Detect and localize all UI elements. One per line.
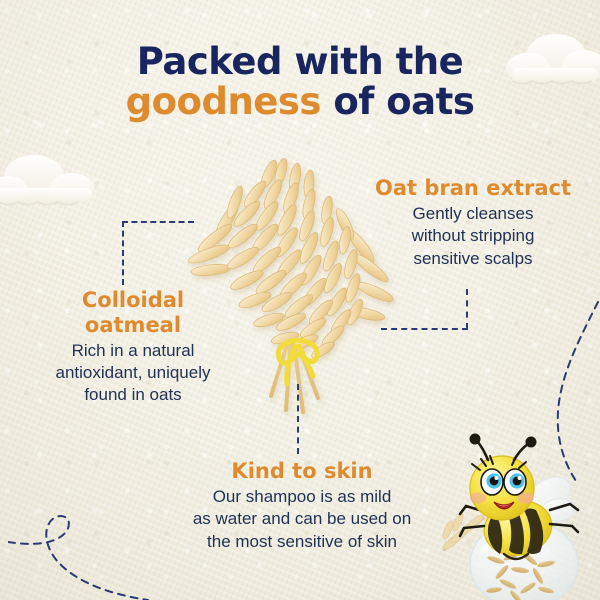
- cloud-left-icon: [0, 146, 102, 214]
- callout-colloidal-body-line-2: antioxidant, uniquely: [14, 362, 252, 384]
- callout-kind-body: Our shampoo is as mild as water and can …: [158, 486, 446, 553]
- bee-wing-icon: [524, 470, 577, 523]
- callout-oat-bran-body-line-1: Gently cleanses: [352, 203, 594, 225]
- connector-colloidal-vertical: [122, 221, 124, 285]
- small-wheat-sprig: [441, 511, 485, 551]
- callout-colloidal-oatmeal: Colloidal oatmeal Rich in a natural anti…: [14, 288, 252, 407]
- headline-line-1: Packed with the: [0, 42, 600, 82]
- callout-colloidal-title-line-2: oatmeal: [14, 313, 252, 338]
- headline-line-2: goodness of oats: [0, 82, 600, 122]
- callout-kind-body-line-1: Our shampoo is as mild: [158, 486, 446, 508]
- callout-oat-bran-title: Oat bran extract: [352, 176, 594, 201]
- glass-bowl-of-oats: [470, 520, 578, 600]
- bee-eyes: [481, 469, 526, 495]
- callout-kind-body-line-3: the most sensitive of skin: [158, 531, 446, 553]
- connector-oat-bran-vertical: [466, 289, 468, 329]
- bee-legs: [460, 504, 578, 536]
- callout-colloidal-title-line-1: Colloidal: [14, 288, 252, 313]
- connector-colloidal-horizontal: [122, 221, 194, 223]
- callout-oat-bran-extract: Oat bran extract Gently cleanses without…: [352, 176, 594, 270]
- callout-colloidal-body-line-3: found in oats: [14, 384, 252, 406]
- callout-oat-bran-body-line-2: without stripping: [352, 225, 594, 247]
- callout-colloidal-body-line-1: Rich in a natural: [14, 340, 252, 362]
- callout-kind-to-skin: Kind to skin Our shampoo is as mild as w…: [158, 459, 446, 553]
- ribbon-bow-icon: [278, 340, 317, 384]
- callout-colloidal-title: Colloidal oatmeal: [14, 288, 252, 338]
- connector-oat-bran-horizontal: [381, 328, 468, 330]
- page-title: Packed with the goodness of oats: [0, 42, 600, 122]
- bee-flight-trail-right: [520, 300, 600, 490]
- connector-kind-to-skin-vertical: [297, 384, 299, 454]
- poster-canvas: Packed with the goodness of oats: [0, 0, 600, 600]
- callout-oat-bran-body: Gently cleanses without stripping sensit…: [352, 203, 594, 270]
- bee-and-oat-bowl-illustration: [438, 432, 600, 600]
- headline-goodness: goodness: [126, 80, 321, 123]
- callout-colloidal-body: Rich in a natural antioxidant, uniquely …: [14, 340, 252, 407]
- bee-head: [470, 435, 535, 520]
- callout-kind-title: Kind to skin: [158, 459, 446, 484]
- callout-oat-bran-body-line-3: sensitive scalps: [352, 248, 594, 270]
- headline-of-oats: of oats: [333, 80, 474, 123]
- bee-flight-trail-bottom-left: [8, 510, 158, 600]
- callout-kind-body-line-2: as water and can be used on: [158, 508, 446, 530]
- bee-abdomen: [479, 495, 557, 562]
